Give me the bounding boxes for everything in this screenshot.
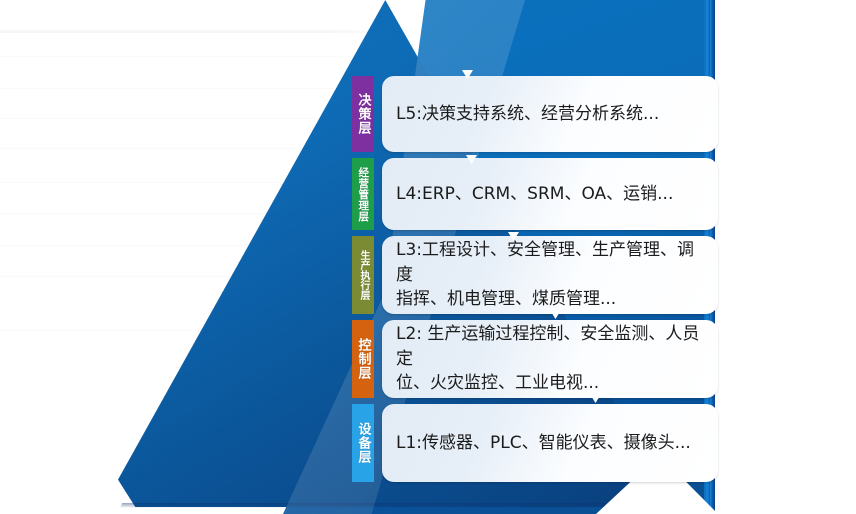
layer-tab-label-l1: 设备层	[357, 422, 370, 464]
layer-tab-l3[interactable]: 生产执行层	[352, 236, 374, 314]
layer-card-line: 位、火灾监控、工业电视...	[396, 371, 704, 396]
layer-card-line: L5:决策支持系统、经营分析系统...	[396, 102, 659, 127]
layer-card-l3[interactable]: L3:工程设计、安全管理、生产管理、调度 指挥、机电管理、煤质管理...	[382, 236, 718, 314]
layer-row-l4[interactable]: 经营管理层 L4:ERP、CRM、SRM、OA、运销...	[352, 158, 718, 230]
layer-card-l4[interactable]: L4:ERP、CRM、SRM、OA、运销...	[382, 158, 718, 230]
layer-tab-l1[interactable]: 设备层	[352, 404, 374, 482]
layer-card-line: L2: 生产运输过程控制、安全监测、人员定	[396, 322, 704, 371]
layer-stack: 决策层 L5:决策支持系统、经营分析系统... 经营管理层 L4:ERP、CRM…	[352, 76, 718, 494]
layer-tab-label-l5: 决策层	[357, 93, 370, 135]
slide-canvas: 决策层 L5:决策支持系统、经营分析系统... 经营管理层 L4:ERP、CRM…	[0, 0, 856, 514]
layer-card-line: L3:工程设计、安全管理、生产管理、调度	[396, 238, 704, 287]
layer-card-l2[interactable]: L2: 生产运输过程控制、安全监测、人员定 位、火灾监控、工业电视...	[382, 320, 718, 398]
layer-row-l1[interactable]: 设备层 L1:传感器、PLC、智能仪表、摄像头...	[352, 404, 718, 482]
layer-card-l5[interactable]: L5:决策支持系统、经营分析系统...	[382, 76, 718, 152]
layer-card-line: L4:ERP、CRM、SRM、OA、运销...	[396, 182, 673, 207]
layer-row-l3[interactable]: 生产执行层 L3:工程设计、安全管理、生产管理、调度 指挥、机电管理、煤质管理.…	[352, 236, 718, 314]
layer-row-l5[interactable]: 决策层 L5:决策支持系统、经营分析系统...	[352, 76, 718, 152]
pyramid-base-shadow	[120, 503, 656, 508]
layer-tab-l4[interactable]: 经营管理层	[352, 158, 374, 230]
layer-tab-l2[interactable]: 控制层	[352, 320, 374, 398]
layer-card-line: L1:传感器、PLC、智能仪表、摄像头...	[396, 431, 691, 456]
layer-tab-label-l3: 生产执行层	[358, 250, 368, 300]
layer-tab-label-l2: 控制层	[357, 338, 370, 380]
layer-card-l1[interactable]: L1:传感器、PLC、智能仪表、摄像头...	[382, 404, 718, 482]
layer-card-line: 指挥、机电管理、煤质管理...	[396, 287, 704, 312]
layer-tab-l5[interactable]: 决策层	[352, 76, 374, 152]
layer-row-l2[interactable]: 控制层 L2: 生产运输过程控制、安全监测、人员定 位、火灾监控、工业电视...	[352, 320, 718, 398]
layer-tab-label-l4: 经营管理层	[358, 167, 369, 222]
